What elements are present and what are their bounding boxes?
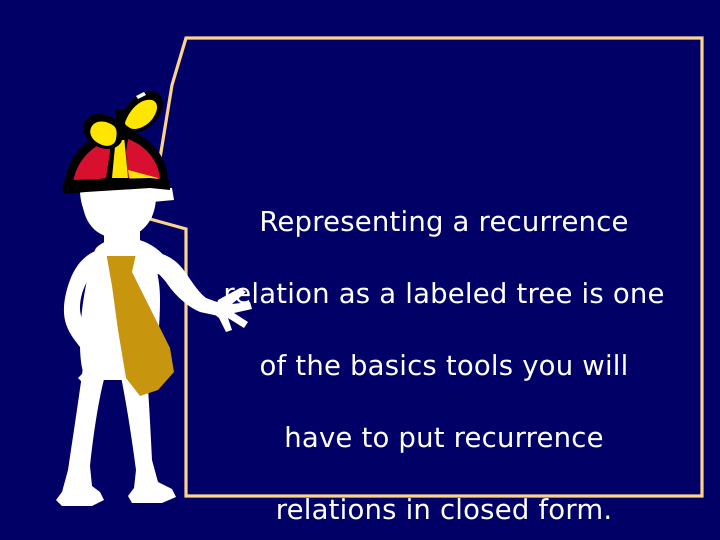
callout-line-1: Representing a recurrence — [196, 204, 692, 240]
slide-canvas: Representing a recurrence relation as a … — [0, 0, 720, 540]
callout-line-3: of the basics tools you will — [196, 348, 692, 384]
callout-line-2: relation as a labeled tree is one — [196, 276, 692, 312]
callout-body-text: Representing a recurrence relation as a … — [196, 168, 692, 540]
character-ear — [152, 188, 174, 202]
callout-line-4: have to put recurrence — [196, 420, 692, 456]
callout-line-5: relations in closed form. — [196, 492, 692, 528]
